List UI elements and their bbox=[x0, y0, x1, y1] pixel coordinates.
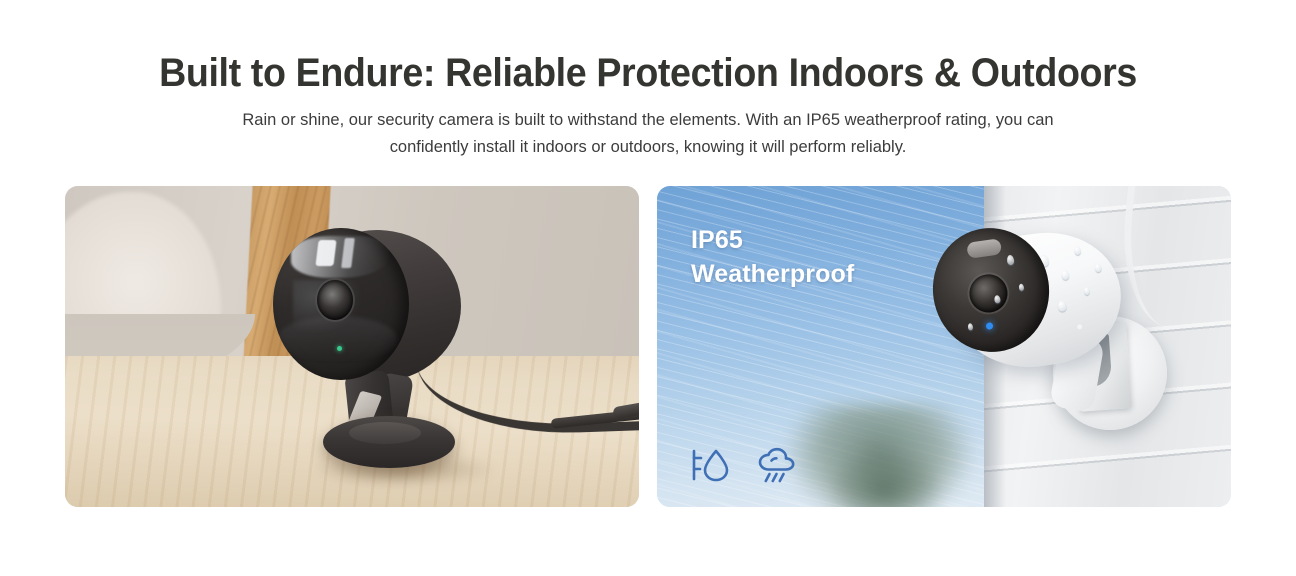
water-droplet bbox=[1018, 283, 1024, 291]
water-droplet bbox=[1084, 287, 1090, 296]
water-droplet bbox=[1094, 263, 1101, 273]
water-droplet bbox=[1057, 300, 1066, 312]
water-droplet bbox=[1074, 246, 1081, 256]
water-droplet bbox=[1006, 255, 1014, 266]
camera-face bbox=[273, 228, 409, 380]
feature-card-row: Dark charcoal security camera sitting on… bbox=[65, 186, 1231, 507]
window-reflection bbox=[315, 240, 336, 266]
status-led-icon bbox=[986, 322, 994, 330]
camera-base bbox=[323, 416, 455, 468]
ip65-overlay-title: IP65 Weatherproof bbox=[691, 224, 854, 291]
overlay-title-line-1: IP65 bbox=[691, 224, 854, 258]
motion-sensor-icon bbox=[966, 238, 1002, 259]
water-droplet bbox=[1061, 269, 1069, 280]
indoor-camera-photo: Dark charcoal security camera sitting on… bbox=[65, 186, 639, 507]
camera-lens bbox=[967, 272, 1010, 315]
page-title: Built to Endure: Reliable Protection Ind… bbox=[39, 50, 1257, 97]
outdoor-camera-photo: IP65 Weatherproof bbox=[657, 186, 1231, 507]
power-cable bbox=[1114, 186, 1198, 329]
outdoor-camera-device bbox=[935, 220, 1185, 460]
page-root: Built to Endure: Reliable Protection Ind… bbox=[0, 0, 1296, 576]
water-resistance-icon bbox=[687, 447, 733, 483]
header: Built to Endure: Reliable Protection Ind… bbox=[0, 0, 1296, 160]
soft-reflection bbox=[277, 316, 397, 362]
overlay-title-line-2: Weatherproof bbox=[691, 258, 854, 292]
blurred-tree bbox=[825, 453, 945, 507]
water-spray bbox=[1077, 324, 1083, 330]
outdoor-camera-card[interactable]: IP65 Weatherproof bbox=[657, 186, 1231, 507]
camera-lens bbox=[317, 280, 353, 320]
water-droplet bbox=[967, 323, 973, 331]
indoor-camera-card[interactable]: Dark charcoal security camera sitting on… bbox=[65, 186, 639, 507]
indoor-camera-device bbox=[265, 224, 465, 474]
weatherproof-icon-group bbox=[687, 447, 803, 483]
page-subtitle: Rain or shine, our security camera is bu… bbox=[221, 107, 1075, 160]
status-led-icon bbox=[337, 346, 342, 351]
glare-reflection bbox=[291, 236, 389, 278]
rain-cloud-icon bbox=[755, 447, 803, 483]
